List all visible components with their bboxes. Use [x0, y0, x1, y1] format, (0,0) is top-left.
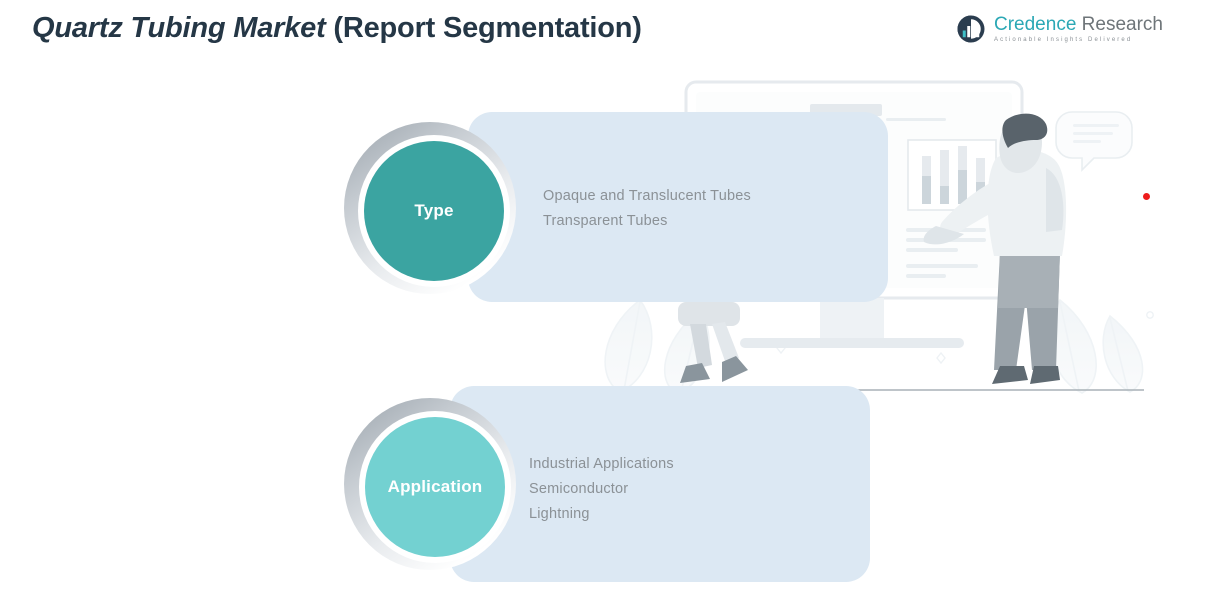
segment-item-list-type: Opaque and Translucent Tubes Transparent…	[543, 184, 751, 234]
page-title-main: Quartz Tubing Market	[32, 12, 333, 44]
logo-word-primary: Credence	[994, 14, 1076, 35]
list-item: Industrial Applications	[529, 452, 674, 477]
list-item: Lightning	[529, 502, 674, 527]
segment-label-type: Type	[414, 201, 453, 221]
red-dot-marker	[1143, 193, 1150, 200]
logo-word-secondary: Research	[1082, 14, 1163, 35]
list-item: Opaque and Translucent Tubes	[543, 184, 751, 209]
list-item: Transparent Tubes	[543, 209, 751, 234]
page-title: Quartz Tubing Market (Report Segmentatio…	[32, 12, 642, 45]
segment-circle-application[interactable]: Application	[365, 417, 505, 557]
logo-tagline: Actionable Insights Delivered	[994, 37, 1163, 43]
logo-wordmark: Credence Research	[994, 15, 1163, 34]
infographic-canvas: Quartz Tubing Market (Report Segmentatio…	[0, 0, 1205, 601]
segment-item-list-application: Industrial Applications Semiconductor Li…	[529, 452, 674, 527]
segment-label-application: Application	[388, 477, 483, 497]
logo-text-block: Credence Research Actionable Insights De…	[994, 15, 1163, 43]
list-item: Semiconductor	[529, 477, 674, 502]
segment-circle-type[interactable]: Type	[364, 141, 504, 281]
page-title-sub: (Report Segmentation)	[333, 12, 641, 44]
brand-logo[interactable]: Credence Research Actionable Insights De…	[956, 14, 1163, 44]
credence-research-logo-icon	[956, 14, 986, 44]
